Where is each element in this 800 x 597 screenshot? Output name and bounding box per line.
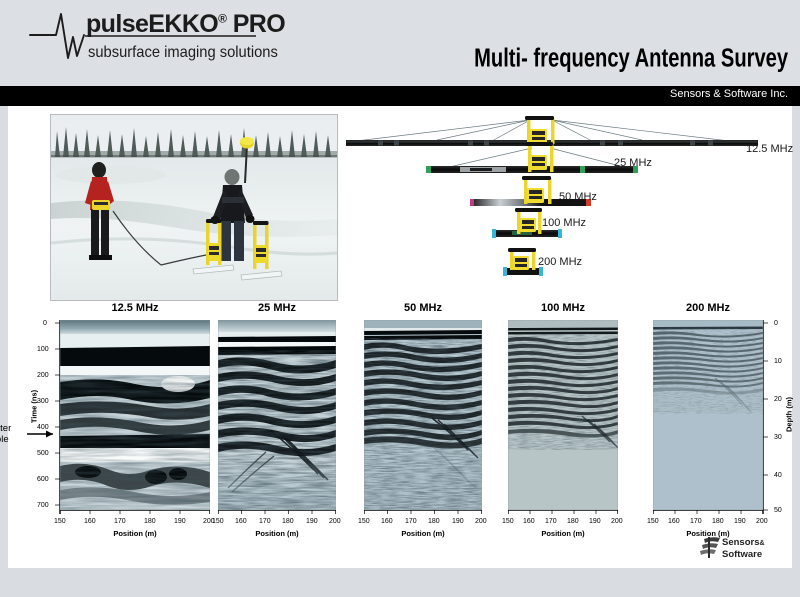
page-title: Multi- frequency Antenna Survey	[474, 45, 788, 74]
water-table-arrow-icon	[27, 429, 61, 439]
company-name: Sensors & Software Inc.	[670, 88, 788, 100]
radargram-panel-row: 12.5 MHz	[8, 302, 792, 562]
panel-title-50mhz: 50 MHz	[364, 302, 482, 314]
antenna-25mhz	[426, 142, 638, 173]
footer-logo-text: Sensors& Software	[722, 537, 765, 560]
title-band: Sensors & Software Inc.	[0, 86, 800, 106]
x-tick-160: 160	[523, 518, 535, 525]
x-axis-ticks	[218, 510, 336, 516]
x-tick-150: 150	[212, 518, 224, 525]
sensors-software-logo-icon	[700, 536, 722, 560]
depth-tick-0: 0	[774, 320, 778, 327]
x-tick-200: 200	[611, 518, 623, 525]
antenna-label-100mhz: 100 MHz	[542, 217, 586, 229]
antenna-label-50mhz: 50 MHz	[559, 191, 597, 203]
x-axis-caption: Position (m)	[508, 529, 618, 538]
depth-tick-50: 50	[774, 507, 782, 514]
depth-tick-30: 30	[774, 434, 782, 441]
x-tick-190: 190	[174, 518, 186, 525]
x-tick-160: 160	[84, 518, 96, 525]
x-tick-180: 180	[428, 518, 440, 525]
depth-tick-40: 40	[774, 472, 782, 479]
x-tick-170: 170	[545, 518, 557, 525]
x-tick-170: 170	[114, 518, 126, 525]
x-tick-180: 180	[144, 518, 156, 525]
x-tick-200: 200	[329, 518, 341, 525]
sensors-software-logo: Sensors& Software	[700, 536, 778, 562]
x-tick-200: 200	[475, 518, 487, 525]
footer-logo-amp: &	[760, 540, 765, 547]
x-tick-160: 160	[235, 518, 247, 525]
x-tick-190: 190	[452, 518, 464, 525]
antenna-label-25mhz: 25 MHz	[614, 157, 652, 169]
radargram-image-200mhz	[653, 320, 763, 510]
y-tick-0: 0	[43, 320, 47, 327]
y-tick-100: 100	[37, 346, 49, 353]
panel-title-25mhz: 25 MHz	[218, 302, 336, 314]
x-tick-150: 150	[54, 518, 66, 525]
x-tick-170: 170	[259, 518, 271, 525]
y-tick-300: 300	[37, 398, 49, 405]
x-tick-150: 150	[502, 518, 514, 525]
antenna-12-5mhz	[346, 116, 758, 146]
y-tick-600: 600	[37, 476, 49, 483]
content-sheet: 12.5 MHz 25 MHz 50 MHz 100 MHz 200 MHz	[8, 106, 792, 568]
panel-title-12-5mhz: 12.5 MHz	[60, 302, 210, 314]
y-axis-ticks	[51, 320, 60, 514]
panel-title-200mhz: 200 MHz	[653, 302, 763, 314]
footer-logo-line2: Software	[722, 549, 762, 560]
x-tick-170: 170	[405, 518, 417, 525]
depth-axis-ticks	[763, 320, 772, 514]
x-axis-ticks	[364, 510, 482, 516]
page-header: pulseEKKO® PRO subsurface imaging soluti…	[0, 0, 800, 86]
radargram-image-50mhz	[364, 320, 482, 510]
x-tick-170: 170	[690, 518, 702, 525]
x-tick-160: 160	[381, 518, 393, 525]
water-table-line1: water	[0, 423, 11, 434]
pulseekko-pro-logo: pulseEKKO® PRO subsurface imaging soluti…	[28, 6, 268, 68]
x-tick-190: 190	[734, 518, 746, 525]
field-survey-photograph	[50, 114, 338, 301]
panel-title-100mhz: 100 MHz	[508, 302, 618, 314]
depth-tick-20: 20	[774, 396, 782, 403]
water-table-line2: table	[0, 434, 9, 445]
antenna-size-comparison-diagram: 12.5 MHz 25 MHz 50 MHz 100 MHz 200 MHz	[342, 110, 788, 302]
slide-canvas: pulseEKKO® PRO subsurface imaging soluti…	[0, 0, 800, 597]
y-tick-500: 500	[37, 450, 49, 457]
footer-logo-line1: Sensors	[722, 537, 760, 548]
brand-name: pulseEKKO® PRO	[86, 10, 285, 39]
depth-axis-caption: Depth (m)	[785, 385, 794, 445]
brand-name-text: pulseEKKO	[86, 10, 218, 38]
radargram-image-25mhz	[218, 320, 336, 510]
radargram-image-12-5mhz	[60, 320, 210, 510]
y-tick-700: 700	[37, 502, 49, 509]
x-tick-180: 180	[567, 518, 579, 525]
y-axis-caption: Time (ns)	[30, 377, 39, 437]
antenna-label-12-5mhz: 12.5 MHz	[746, 143, 793, 155]
radargram-image-100mhz	[508, 320, 618, 510]
water-table-annotation: water table	[0, 423, 11, 445]
brand-tagline: subsurface imaging solutions	[88, 44, 278, 62]
x-axis-caption: Position (m)	[364, 529, 482, 538]
x-tick-180: 180	[712, 518, 724, 525]
x-tick-150: 150	[647, 518, 659, 525]
x-tick-200: 200	[756, 518, 768, 525]
y-tick-200: 200	[37, 372, 49, 379]
x-tick-180: 180	[282, 518, 294, 525]
x-tick-150: 150	[358, 518, 370, 525]
antenna-200mhz	[503, 248, 543, 276]
x-axis-ticks	[508, 510, 618, 516]
brand-pro-text: PRO	[226, 10, 285, 38]
antenna-label-200mhz: 200 MHz	[538, 256, 582, 268]
x-tick-190: 190	[589, 518, 601, 525]
x-axis-ticks	[60, 510, 210, 516]
depth-tick-10: 10	[774, 358, 782, 365]
x-axis-caption: Position (m)	[218, 529, 336, 538]
x-tick-160: 160	[668, 518, 680, 525]
x-tick-190: 190	[306, 518, 318, 525]
x-axis-ticks	[653, 510, 763, 516]
x-axis-caption: Position (m)	[60, 529, 210, 538]
